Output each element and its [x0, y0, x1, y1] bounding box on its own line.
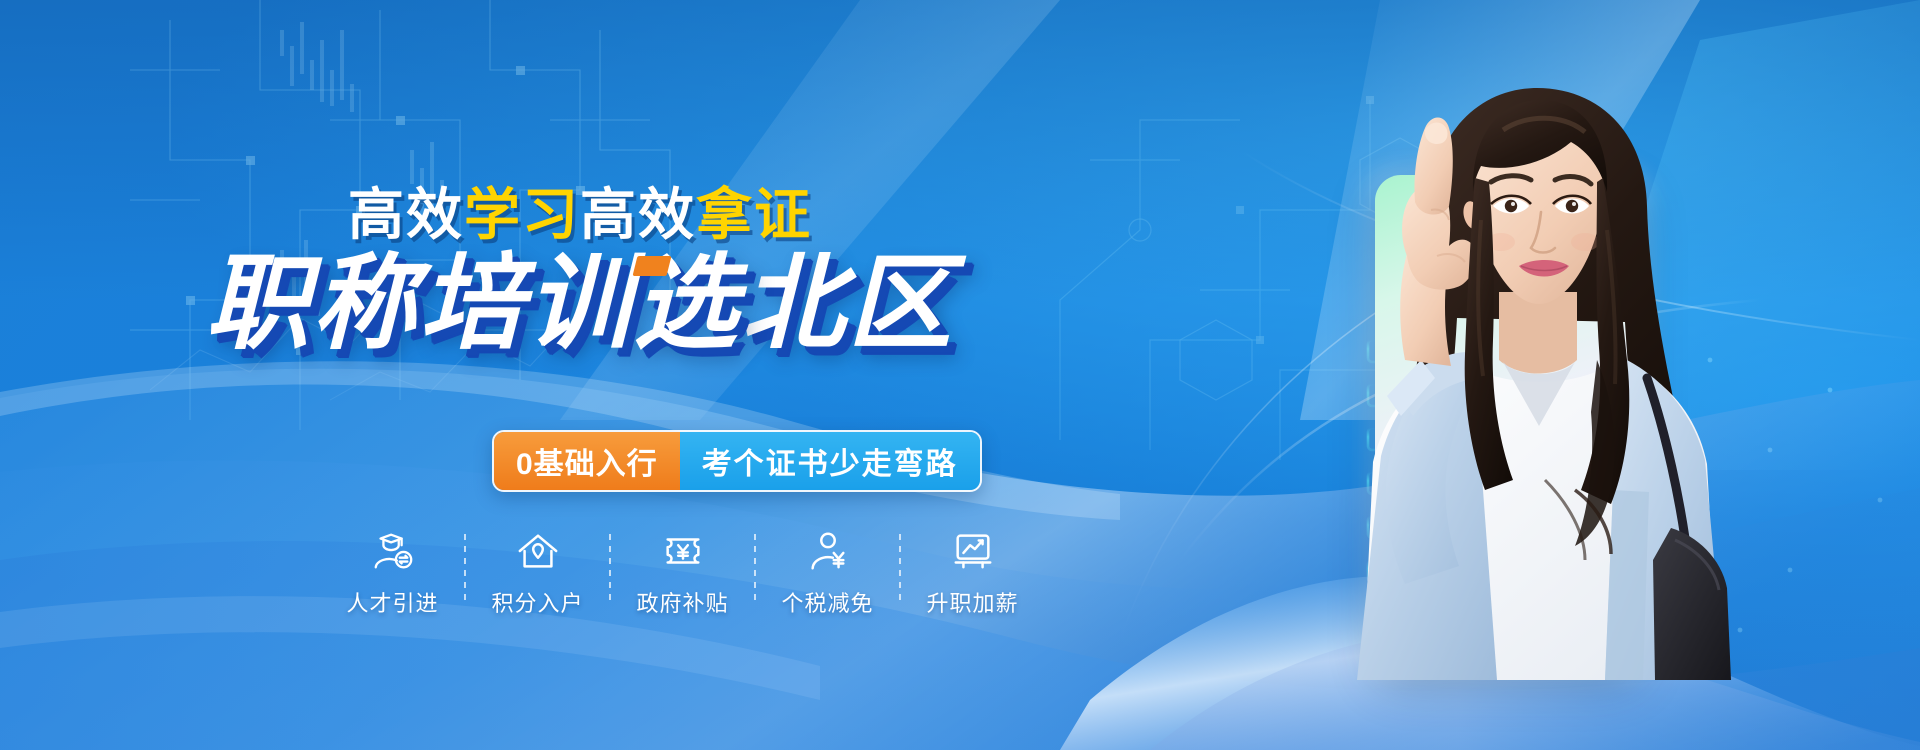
feature-item-points-residency[interactable]: 积分入户	[475, 528, 600, 618]
feature-divider	[464, 534, 466, 600]
graduate-person-icon	[370, 528, 416, 574]
feature-divider	[899, 534, 901, 600]
promo-banner: 高效学习高效拿证 职称培训选北区 0基础入行 考个证书少走弯路 人才引进	[0, 0, 1920, 750]
house-pin-icon	[515, 528, 561, 574]
sub-headline: 高效学习高效拿证	[0, 186, 1160, 245]
feature-divider	[754, 534, 756, 600]
feature-label: 积分入户	[491, 586, 583, 618]
feature-item-government-subsidy[interactable]: 政府补贴	[620, 528, 745, 618]
feature-label: 升职加薪	[926, 586, 1018, 618]
tagline-badge[interactable]: 0基础入行 考个证书少走弯路	[492, 430, 982, 492]
main-headline: 职称培训选北区	[0, 252, 1160, 356]
sub-headline-seg-2: 学习	[464, 183, 580, 246]
sub-headline-seg-4: 拿证	[696, 183, 812, 246]
main-headline-accent-host: 选	[633, 252, 740, 356]
feature-label: 人才引进	[346, 586, 438, 618]
copy-block: 高效学习高效拿证 职称培训选北区 0基础入行 考个证书少走弯路 人才引进	[0, 0, 1160, 750]
feature-item-talent-introduction[interactable]: 人才引进	[330, 528, 455, 618]
model-photo	[1245, 60, 1785, 680]
model-composition	[1245, 60, 1785, 680]
orange-accent-dash	[633, 256, 672, 276]
person-yuan-icon	[805, 528, 851, 574]
sub-headline-seg-1: 高效	[348, 183, 464, 246]
sub-headline-seg-3: 高效	[580, 183, 696, 246]
feature-item-promotion-raise[interactable]: 升职加薪	[910, 528, 1035, 618]
feature-list: 人才引进 积分入户 政府补贴	[330, 528, 1035, 618]
feature-label: 个税减免	[781, 586, 873, 618]
feature-divider	[609, 534, 611, 600]
main-headline-after: 北区	[741, 246, 955, 362]
ticket-yuan-icon	[660, 528, 706, 574]
feature-item-tax-reduction[interactable]: 个税减免	[765, 528, 890, 618]
badge-secondary-label: 考个证书少走弯路	[680, 432, 980, 490]
main-headline-before: 职称培训	[205, 246, 633, 362]
badge-primary-label: 0基础入行	[494, 432, 680, 490]
rising-chart-board-icon	[950, 528, 996, 574]
feature-label: 政府补贴	[636, 586, 728, 618]
